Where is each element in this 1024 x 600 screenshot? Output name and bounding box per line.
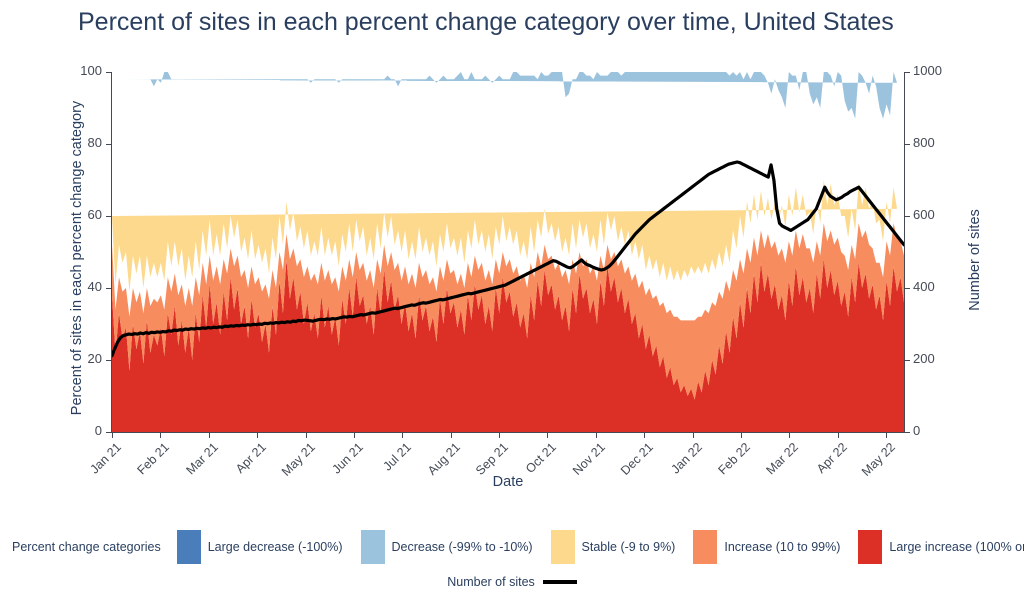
x-axis-line [112, 432, 905, 433]
legend-item-label: Large decrease (-100%) [208, 540, 343, 554]
legend-categories: Percent change categories Large decrease… [0, 528, 1024, 566]
x-axis-tick [160, 433, 161, 438]
x-axis-tick [547, 433, 548, 438]
legend-swatch-icon [551, 530, 575, 564]
x-axis-tick [886, 433, 887, 438]
y-axis-left-tick-label: 0 [62, 423, 102, 438]
legend-swatch-icon [361, 530, 385, 564]
y-axis-right-tick [905, 432, 910, 433]
x-axis-tick [209, 433, 210, 438]
y-axis-right-tick [905, 360, 910, 361]
y-axis-left-tick [106, 216, 111, 217]
legend-swatch-icon [693, 530, 717, 564]
y-axis-right-tick-label: 800 [913, 135, 961, 150]
x-axis-tick [596, 433, 597, 438]
legend-item-0[interactable]: Large decrease (-100%) [177, 530, 343, 564]
legend-item-label: Large increase (100% or more) [889, 540, 1024, 554]
y-axis-left-tick [106, 432, 111, 433]
legend-item-4[interactable]: Large increase (100% or more) [858, 530, 1024, 564]
legend-title: Percent change categories [12, 540, 161, 554]
x-axis-tick [499, 433, 500, 438]
y-axis-left-tick-label: 60 [62, 207, 102, 222]
y-axis-right-line [904, 72, 905, 433]
chart-root: Percent of sites in each percent change … [0, 0, 1024, 600]
x-axis-tick [112, 433, 113, 438]
stacked-area-chart [112, 72, 904, 432]
y-axis-right-tick-label: 400 [913, 279, 961, 294]
legend-items: Large decrease (-100%)Decrease (-99% to … [177, 530, 1024, 564]
y-axis-right-tick [905, 72, 910, 73]
page-title: Percent of sites in each percent change … [78, 6, 958, 38]
legend-swatch-icon [858, 530, 882, 564]
legend-line-label: Number of sites [447, 575, 535, 589]
legend-swatch-icon [177, 530, 201, 564]
y-axis-left-tick-label: 80 [62, 135, 102, 150]
y-axis-right-tick-label: 200 [913, 351, 961, 366]
y-axis-left-tick-label: 100 [62, 63, 102, 78]
x-axis-tick [451, 433, 452, 438]
legend-line-swatch [543, 580, 577, 584]
y-axis-left-tick [106, 360, 111, 361]
x-axis-tick [257, 433, 258, 438]
y-axis-right-title: Number of sites [967, 130, 983, 390]
y-axis-right-tick-label: 0 [913, 423, 961, 438]
y-axis-left-tick-label: 40 [62, 279, 102, 294]
x-axis-tick [789, 433, 790, 438]
y-axis-right-tick [905, 288, 910, 289]
x-axis-tick [838, 433, 839, 438]
legend-item-label: Stable (-9 to 9%) [582, 540, 676, 554]
y-axis-left-tick [106, 144, 111, 145]
legend-item-1[interactable]: Decrease (-99% to -10%) [361, 530, 533, 564]
y-axis-right-tick [905, 144, 910, 145]
x-axis-tick [354, 433, 355, 438]
legend-line-row: Number of sites [0, 575, 1024, 589]
x-axis-tick [693, 433, 694, 438]
legend-item-label: Decrease (-99% to -10%) [392, 540, 533, 554]
y-axis-left-tick-label: 20 [62, 351, 102, 366]
plot-area [112, 72, 904, 432]
legend-item-label: Increase (10 to 99%) [724, 540, 840, 554]
area-band-3 [112, 72, 897, 119]
legend-item-3[interactable]: Increase (10 to 99%) [693, 530, 840, 564]
x-axis-tick [306, 433, 307, 438]
x-axis-tick [741, 433, 742, 438]
y-axis-left-tick [106, 72, 111, 73]
x-axis-tick [644, 433, 645, 438]
y-axis-right-tick-label: 1000 [913, 63, 961, 78]
legend-item-2[interactable]: Stable (-9 to 9%) [551, 530, 676, 564]
y-axis-right-tick [905, 216, 910, 217]
y-axis-left-tick [106, 288, 111, 289]
y-axis-left-line [111, 72, 112, 433]
x-axis-tick [402, 433, 403, 438]
y-axis-right-tick-label: 600 [913, 207, 961, 222]
